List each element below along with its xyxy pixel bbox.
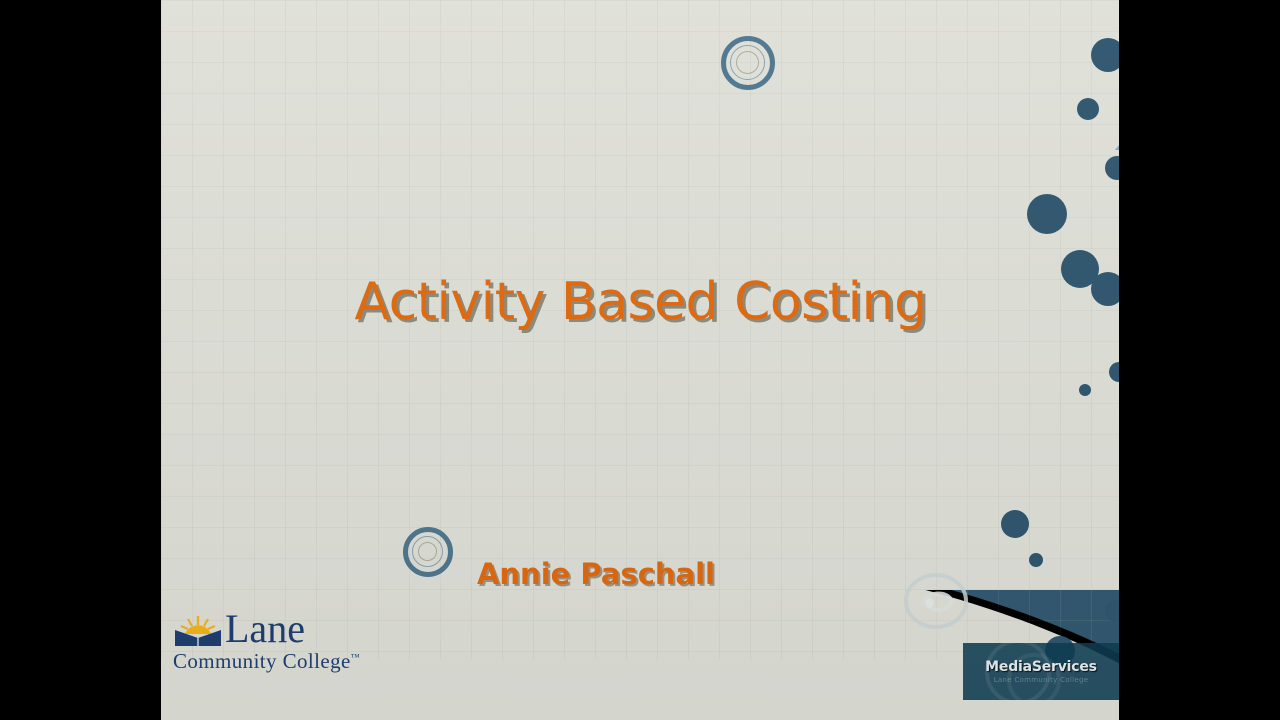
pillarbox-right: [1119, 0, 1280, 720]
watermark-label: MediaServices: [963, 659, 1119, 675]
dot-1: [1091, 38, 1120, 72]
slide-title: Activity Based Costing: [161, 272, 1120, 332]
pillarbox-left: [0, 0, 161, 720]
presentation-slide: Activity Based Costing Annie Paschall: [161, 0, 1120, 720]
open-book-sunburst-icon: [173, 614, 223, 648]
dot-2: [1077, 98, 1099, 120]
dot-12: [1105, 600, 1120, 622]
dot-7: [1079, 384, 1091, 396]
logo-trademark-symbol: ™: [351, 652, 360, 662]
slide-presenter-name: Annie Paschall: [161, 557, 1031, 591]
logo-tagline-text: Community College: [173, 649, 351, 673]
media-services-watermark: MediaServices Lane Community College: [963, 643, 1119, 700]
dot-10: [1029, 553, 1043, 567]
dot-4: [1027, 194, 1067, 234]
logo-wordmark: Lane: [225, 611, 305, 648]
rings-top-icon: [721, 36, 775, 90]
dot-9: [1001, 510, 1029, 538]
lane-community-college-logo: Lane Community College™: [173, 604, 393, 676]
logo-tagline: Community College™: [173, 649, 393, 674]
video-player-stage: Activity Based Costing Annie Paschall: [0, 0, 1280, 720]
watermark-sublabel: Lane Community College: [963, 676, 1119, 684]
